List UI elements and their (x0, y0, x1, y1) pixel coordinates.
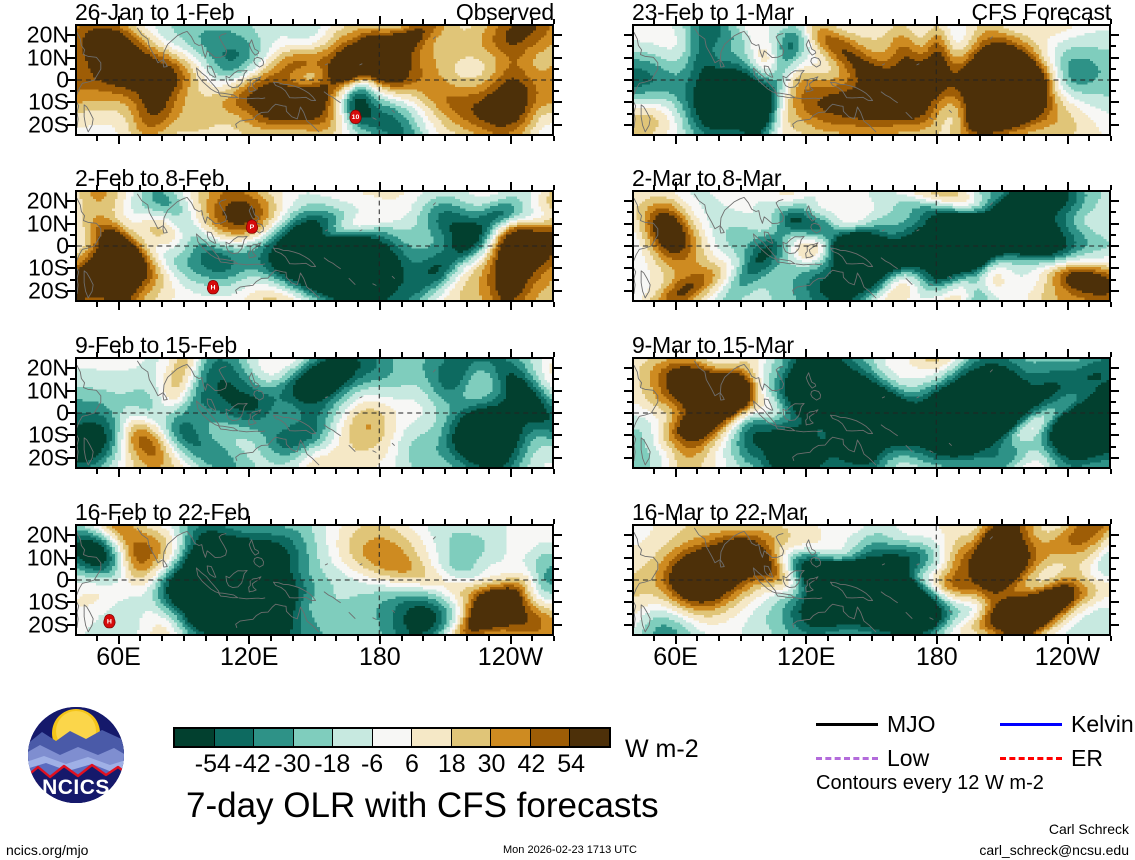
x-minor-tick (401, 19, 403, 24)
x-axis-label: 60E (653, 645, 697, 670)
svg-text:P: P (250, 224, 255, 231)
colorbar-tick-label: -42 (235, 752, 271, 777)
colorbar-tick-label: 54 (557, 752, 585, 777)
x-minor-tick (335, 519, 337, 524)
x-minor-tick (96, 519, 98, 524)
y-minor-tick (1111, 545, 1116, 547)
x-minor-tick (139, 302, 141, 307)
y-tick (554, 457, 562, 459)
x-minor-tick (827, 519, 829, 524)
y-tick (1111, 79, 1119, 81)
x-minor-tick (849, 136, 851, 141)
y-tick (1111, 223, 1119, 225)
x-minor-tick (139, 352, 141, 357)
y-minor-tick (1111, 45, 1116, 47)
map-plot-area (632, 190, 1111, 302)
x-minor-tick (1088, 352, 1090, 357)
x-minor-tick (488, 302, 490, 307)
x-minor-tick (226, 185, 228, 190)
x-minor-tick (849, 185, 851, 190)
legend-line-swatch (1000, 723, 1062, 726)
map-plot-area (632, 24, 1111, 136)
x-minor-tick (553, 469, 555, 474)
x-minor-tick (401, 352, 403, 357)
x-minor-tick (849, 469, 851, 474)
y-minor-tick (1111, 113, 1116, 115)
x-minor-tick (1110, 519, 1112, 524)
x-minor-tick (466, 352, 468, 357)
x-tick (805, 16, 807, 24)
x-tick (1067, 349, 1069, 357)
x-minor-tick (357, 302, 359, 307)
x-minor-tick (1045, 302, 1047, 307)
y-tick (1111, 267, 1119, 269)
y-tick (624, 601, 632, 603)
y-tick (1111, 557, 1119, 559)
y-minor-tick (70, 90, 75, 92)
y-minor-tick (70, 446, 75, 448)
x-axis-label: 120W (478, 645, 543, 670)
y-tick (1111, 579, 1119, 581)
x-minor-tick (958, 136, 960, 141)
x-minor-tick (292, 352, 294, 357)
colorbar-swatch (412, 729, 452, 746)
x-minor-tick (161, 302, 163, 307)
y-minor-tick (554, 401, 559, 403)
x-minor-tick (718, 185, 720, 190)
x-minor-tick (958, 636, 960, 641)
legend-item-low: Low (816, 747, 929, 770)
x-minor-tick (653, 519, 655, 524)
x-tick (510, 16, 512, 24)
y-minor-tick (1111, 256, 1116, 258)
x-minor-tick (1110, 185, 1112, 190)
x-minor-tick (958, 19, 960, 24)
x-minor-tick (849, 519, 851, 524)
contour-interval-note: Contours every 12 W m-2 (816, 773, 1044, 793)
colorbar-swatch (254, 729, 294, 746)
y-tick (624, 457, 632, 459)
map-plot-area: 10 (75, 24, 554, 136)
x-minor-tick (314, 19, 316, 24)
colorbar-swatch (373, 729, 413, 746)
x-minor-tick (335, 302, 337, 307)
x-minor-tick (979, 19, 981, 24)
colorbar-swatch (452, 729, 492, 746)
x-minor-tick (466, 136, 468, 141)
x-minor-tick (979, 302, 981, 307)
x-tick (675, 16, 677, 24)
x-minor-tick (444, 636, 446, 641)
y-tick (1111, 624, 1119, 626)
y-tick (1111, 101, 1119, 103)
y-tick (624, 101, 632, 103)
y-tick (624, 624, 632, 626)
x-minor-tick (849, 19, 851, 24)
x-minor-tick (226, 636, 228, 641)
y-minor-tick (554, 545, 559, 547)
colorbar-swatch (570, 729, 609, 746)
y-tick (554, 57, 562, 59)
x-minor-tick (422, 519, 424, 524)
y-minor-tick (627, 234, 632, 236)
x-tick (510, 136, 512, 144)
figure-canvas: 26-Jan to 1-FebObserved 1020N10N010S20S2… (0, 0, 1135, 860)
x-minor-tick (357, 136, 359, 141)
y-tick (554, 601, 562, 603)
panel-cfs-1: 23-Feb to 1-MarCFS Forecast (632, 24, 1111, 136)
x-minor-tick (488, 19, 490, 24)
x-minor-tick (783, 19, 785, 24)
x-minor-tick (270, 352, 272, 357)
x-minor-tick (161, 136, 163, 141)
x-minor-tick (762, 302, 764, 307)
x-minor-tick (740, 469, 742, 474)
x-minor-tick (139, 636, 141, 641)
map-plot-area: H (75, 524, 554, 636)
x-minor-tick (958, 185, 960, 190)
colorbar-swatch (294, 729, 334, 746)
x-minor-tick (892, 519, 894, 524)
x-minor-tick (1088, 19, 1090, 24)
y-tick (624, 200, 632, 202)
legend-label: Kelvin x2 (1071, 713, 1135, 736)
x-minor-tick (96, 302, 98, 307)
y-minor-tick (1111, 90, 1116, 92)
x-minor-tick (871, 185, 873, 190)
column-header: Observed (456, 1, 554, 24)
x-minor-tick (96, 19, 98, 24)
y-minor-tick (70, 423, 75, 425)
y-minor-tick (554, 211, 559, 213)
x-tick (936, 182, 938, 190)
x-minor-tick (444, 185, 446, 190)
x-minor-tick (740, 19, 742, 24)
x-minor-tick (270, 519, 272, 524)
x-tick (936, 349, 938, 357)
panel-cfs-4: 16-Mar to 22-Mar60E120E180120W (632, 524, 1111, 636)
y-tick (554, 223, 562, 225)
x-tick (1067, 516, 1069, 524)
y-tick (554, 101, 562, 103)
x-minor-tick (444, 352, 446, 357)
y-minor-tick (70, 45, 75, 47)
x-minor-tick (1110, 19, 1112, 24)
y-tick (1111, 434, 1119, 436)
y-axis-label: 20S (28, 613, 69, 636)
x-minor-tick (1045, 469, 1047, 474)
x-minor-tick (270, 636, 272, 641)
x-minor-tick (696, 636, 698, 641)
x-minor-tick (314, 352, 316, 357)
x-minor-tick (96, 352, 98, 357)
y-minor-tick (70, 545, 75, 547)
x-minor-tick (740, 519, 742, 524)
x-minor-tick (696, 352, 698, 357)
x-minor-tick (1023, 19, 1025, 24)
x-minor-tick (357, 519, 359, 524)
x-tick (675, 302, 677, 310)
y-minor-tick (627, 256, 632, 258)
x-minor-tick (161, 636, 163, 641)
x-minor-tick (871, 136, 873, 141)
y-tick (554, 412, 562, 414)
x-minor-tick (335, 19, 337, 24)
x-minor-tick (958, 302, 960, 307)
y-minor-tick (627, 590, 632, 592)
x-tick (510, 182, 512, 190)
y-minor-tick (627, 446, 632, 448)
x-minor-tick (827, 352, 829, 357)
y-tick (624, 245, 632, 247)
y-minor-tick (554, 90, 559, 92)
y-minor-tick (627, 45, 632, 47)
y-minor-tick (1111, 590, 1116, 592)
x-minor-tick (139, 469, 141, 474)
x-minor-tick (401, 636, 403, 641)
x-minor-tick (871, 352, 873, 357)
x-minor-tick (314, 136, 316, 141)
x-minor-tick (292, 469, 294, 474)
x-tick (118, 16, 120, 24)
x-minor-tick (531, 519, 533, 524)
y-minor-tick (70, 378, 75, 380)
x-minor-tick (696, 519, 698, 524)
x-minor-tick (914, 136, 916, 141)
y-minor-tick (627, 378, 632, 380)
x-minor-tick (762, 636, 764, 641)
x-minor-tick (892, 352, 894, 357)
panel-obs-2: 2-Feb to 8-Feb P H20N10N010S20S (75, 190, 554, 302)
x-minor-tick (553, 636, 555, 641)
x-minor-tick (1023, 352, 1025, 357)
x-minor-tick (161, 469, 163, 474)
colorbar-tick-label: -30 (274, 752, 310, 777)
x-minor-tick (553, 352, 555, 357)
colorbar-tick-label: 30 (478, 752, 506, 777)
x-minor-tick (553, 19, 555, 24)
x-minor-tick (422, 136, 424, 141)
legend-line-swatch (816, 723, 878, 726)
x-minor-tick (1001, 19, 1003, 24)
y-minor-tick (1111, 211, 1116, 213)
x-minor-tick (205, 469, 207, 474)
x-minor-tick (531, 636, 533, 641)
x-minor-tick (553, 302, 555, 307)
y-minor-tick (70, 279, 75, 281)
y-tick (554, 124, 562, 126)
x-minor-tick (314, 519, 316, 524)
y-minor-tick (1111, 568, 1116, 570)
x-tick (805, 349, 807, 357)
x-minor-tick (96, 469, 98, 474)
x-minor-tick (914, 636, 916, 641)
x-minor-tick (357, 352, 359, 357)
x-minor-tick (871, 519, 873, 524)
x-minor-tick (161, 519, 163, 524)
y-tick (554, 200, 562, 202)
x-minor-tick (1088, 185, 1090, 190)
panel-obs-1: 26-Jan to 1-FebObserved 1020N10N010S20S (75, 24, 554, 136)
x-tick (118, 516, 120, 524)
x-minor-tick (270, 19, 272, 24)
x-minor-tick (653, 302, 655, 307)
panel-cfs-3: 9-Mar to 15-Mar (632, 357, 1111, 469)
y-tick (624, 57, 632, 59)
x-minor-tick (696, 302, 698, 307)
x-minor-tick (892, 136, 894, 141)
x-tick (118, 469, 120, 477)
y-minor-tick (627, 423, 632, 425)
x-minor-tick (762, 469, 764, 474)
x-minor-tick (1001, 302, 1003, 307)
y-tick (1111, 124, 1119, 126)
y-minor-tick (1111, 68, 1116, 70)
x-minor-tick (488, 636, 490, 641)
map-plot-area (632, 357, 1111, 469)
x-minor-tick (139, 185, 141, 190)
x-minor-tick (914, 19, 916, 24)
x-minor-tick (696, 19, 698, 24)
x-minor-tick (553, 519, 555, 524)
x-minor-tick (892, 469, 894, 474)
x-minor-tick (653, 19, 655, 24)
y-tick (554, 79, 562, 81)
x-minor-tick (827, 19, 829, 24)
x-tick (379, 182, 381, 190)
x-minor-tick (696, 469, 698, 474)
y-tick (554, 534, 562, 536)
y-tick (1111, 245, 1119, 247)
x-minor-tick (205, 302, 207, 307)
x-axis-label: 180 (916, 645, 958, 670)
x-minor-tick (849, 302, 851, 307)
y-minor-tick (627, 68, 632, 70)
x-minor-tick (783, 136, 785, 141)
y-minor-tick (627, 90, 632, 92)
x-minor-tick (422, 352, 424, 357)
y-tick (1111, 601, 1119, 603)
y-tick (624, 223, 632, 225)
x-minor-tick (183, 519, 185, 524)
y-minor-tick (1111, 234, 1116, 236)
y-tick (624, 579, 632, 581)
x-minor-tick (958, 469, 960, 474)
y-tick (624, 434, 632, 436)
y-tick (1111, 534, 1119, 536)
y-minor-tick (627, 211, 632, 213)
x-minor-tick (183, 136, 185, 141)
x-minor-tick (762, 19, 764, 24)
x-minor-tick (1045, 19, 1047, 24)
y-minor-tick (70, 68, 75, 70)
x-minor-tick (718, 469, 720, 474)
x-tick (248, 302, 250, 310)
x-minor-tick (718, 302, 720, 307)
x-minor-tick (314, 469, 316, 474)
x-minor-tick (871, 302, 873, 307)
x-minor-tick (531, 469, 533, 474)
y-minor-tick (554, 446, 559, 448)
x-minor-tick (488, 469, 490, 474)
y-tick (1111, 290, 1119, 292)
x-minor-tick (270, 136, 272, 141)
svg-text:10: 10 (352, 114, 360, 121)
x-minor-tick (161, 185, 163, 190)
x-tick (248, 349, 250, 357)
y-minor-tick (1111, 613, 1116, 615)
x-minor-tick (1001, 136, 1003, 141)
x-tick (1067, 469, 1069, 477)
x-tick (248, 16, 250, 24)
x-minor-tick (205, 19, 207, 24)
x-minor-tick (466, 302, 468, 307)
x-tick (936, 516, 938, 524)
x-minor-tick (653, 136, 655, 141)
x-minor-tick (292, 19, 294, 24)
x-tick (675, 136, 677, 144)
y-minor-tick (70, 613, 75, 615)
x-minor-tick (718, 136, 720, 141)
x-minor-tick (553, 185, 555, 190)
y-minor-tick (70, 590, 75, 592)
x-minor-tick (357, 185, 359, 190)
y-minor-tick (627, 545, 632, 547)
x-tick (805, 182, 807, 190)
x-minor-tick (335, 352, 337, 357)
panel-cfs-2: 2-Mar to 8-Mar (632, 190, 1111, 302)
panel-title: 26-Jan to 1-Feb (75, 1, 234, 24)
x-minor-tick (401, 302, 403, 307)
y-minor-tick (1111, 279, 1116, 281)
x-minor-tick (531, 136, 533, 141)
x-minor-tick (653, 185, 655, 190)
x-minor-tick (1001, 519, 1003, 524)
x-minor-tick (1045, 185, 1047, 190)
x-tick (675, 349, 677, 357)
y-minor-tick (554, 613, 559, 615)
x-tick (379, 469, 381, 477)
x-tick (248, 469, 250, 477)
colorbar (173, 727, 611, 748)
x-minor-tick (827, 469, 829, 474)
y-tick (1111, 34, 1119, 36)
x-minor-tick (226, 352, 228, 357)
x-minor-tick (1001, 185, 1003, 190)
x-tick (1067, 16, 1069, 24)
x-minor-tick (139, 519, 141, 524)
y-minor-tick (70, 234, 75, 236)
x-minor-tick (139, 19, 141, 24)
x-minor-tick (96, 185, 98, 190)
x-minor-tick (96, 136, 98, 141)
x-minor-tick (422, 19, 424, 24)
x-minor-tick (979, 519, 981, 524)
x-minor-tick (979, 185, 981, 190)
x-minor-tick (531, 185, 533, 190)
y-minor-tick (554, 279, 559, 281)
x-minor-tick (357, 636, 359, 641)
x-minor-tick (696, 136, 698, 141)
panel-obs-3: 9-Feb to 15-Feb20N10N010S20S (75, 357, 554, 469)
x-minor-tick (871, 19, 873, 24)
x-minor-tick (783, 352, 785, 357)
x-minor-tick (849, 636, 851, 641)
x-minor-tick (270, 469, 272, 474)
y-minor-tick (554, 590, 559, 592)
colorbar-tick-label: -18 (314, 752, 350, 777)
x-tick (379, 302, 381, 310)
